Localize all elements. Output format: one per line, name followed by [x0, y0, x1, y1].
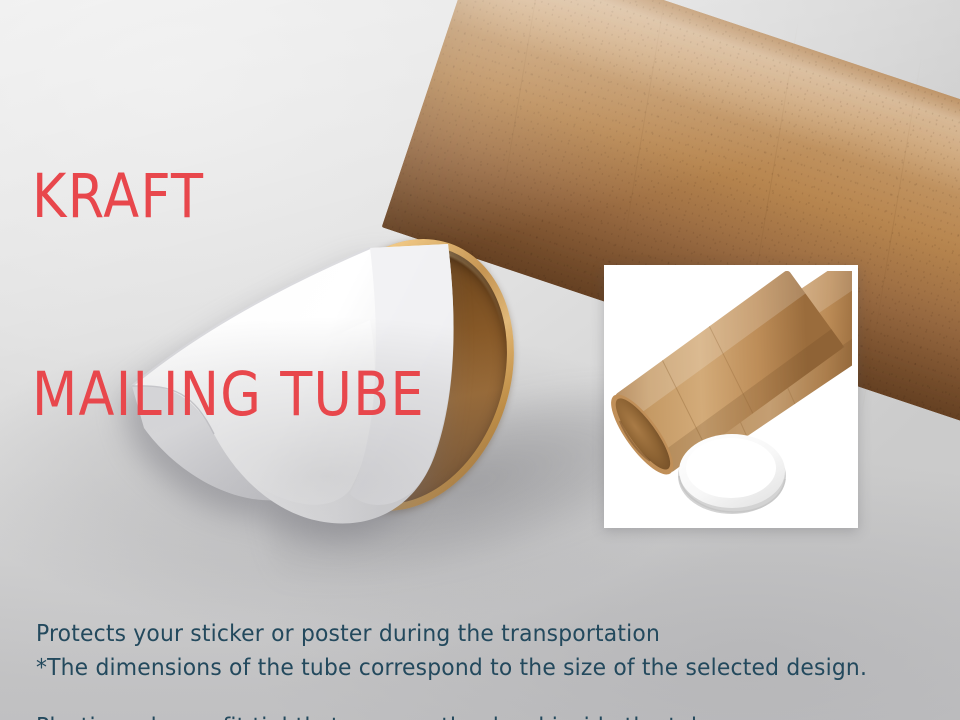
headline-line-1: KRAFT	[32, 164, 425, 230]
feature-line-2: Plastic end caps fit tightly to secure t…	[36, 711, 719, 720]
feature-copy: Protects your sticker or poster during t…	[36, 556, 719, 720]
inset-loose-end-cap	[678, 434, 786, 514]
inset-photo	[610, 271, 852, 522]
footnote: *The dimensions of the tube correspond t…	[36, 652, 867, 682]
product-banner: KRAFT MAILING TUBE Protects your sticker…	[0, 0, 960, 720]
inset-tubes-illustration	[610, 271, 852, 522]
inset-photo-frame	[604, 265, 858, 528]
headline: KRAFT MAILING TUBE	[32, 32, 425, 560]
headline-line-2: MAILING TUBE	[32, 362, 425, 428]
feature-line-1: Protects your sticker or poster during t…	[36, 618, 719, 649]
